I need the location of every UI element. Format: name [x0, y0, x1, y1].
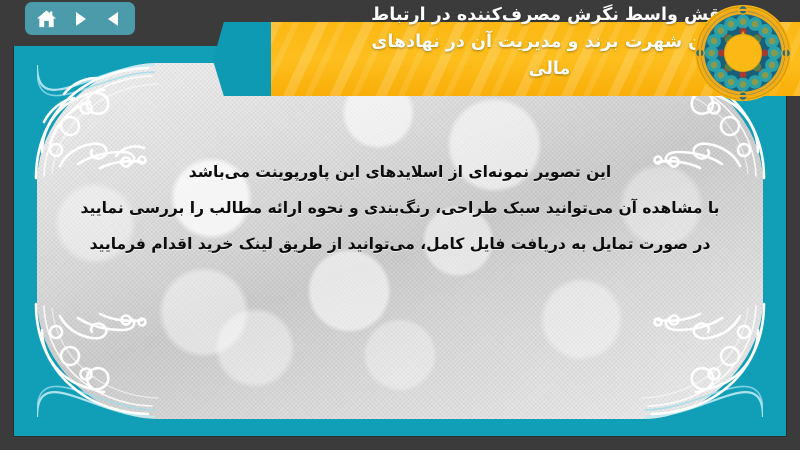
home-icon	[36, 9, 57, 29]
slide-title: نقش واسط نگرش مصرف‌کننده در ارتباط میان …	[213, 2, 800, 83]
body-line-1: این تصویر نمونه‌ای از اسلایدهای این پاور…	[37, 159, 763, 185]
title-banner: نقش واسط نگرش مصرف‌کننده در ارتباط میان …	[213, 22, 800, 96]
title-line-1: نقش واسط نگرش مصرف‌کننده در ارتباط	[305, 2, 794, 29]
title-line-3: مالی	[305, 56, 794, 83]
slide-body-text: این تصویر نمونه‌ای از اسلایدهای این پاور…	[37, 159, 763, 267]
inner-corner-cut-bottom-right	[643, 299, 763, 419]
inner-corner-cut-bottom-left	[37, 299, 157, 419]
navigation-buttons	[25, 2, 135, 35]
back-button[interactable]	[101, 7, 127, 31]
forward-button[interactable]	[67, 7, 93, 31]
title-line-2: میان شهرت برند و مدیریت آن در نهادهای	[305, 29, 794, 56]
body-line-3: در صورت تمایل به دریافت فایل کامل، می‌تو…	[37, 231, 763, 257]
slide-frame: این تصویر نمونه‌ای از اسلایدهای این پاور…	[14, 46, 786, 436]
body-line-2: با مشاهده آن می‌توانید سبک طراحی، رنگ‌بن…	[37, 195, 763, 221]
triangle-left-icon	[105, 10, 123, 28]
home-button[interactable]	[33, 7, 59, 31]
slide-canvas: این تصویر نمونه‌ای از اسلایدهای این پاور…	[37, 63, 763, 419]
triangle-right-icon	[71, 10, 89, 28]
slide-viewer: این تصویر نمونه‌ای از اسلایدهای این پاور…	[0, 0, 800, 450]
